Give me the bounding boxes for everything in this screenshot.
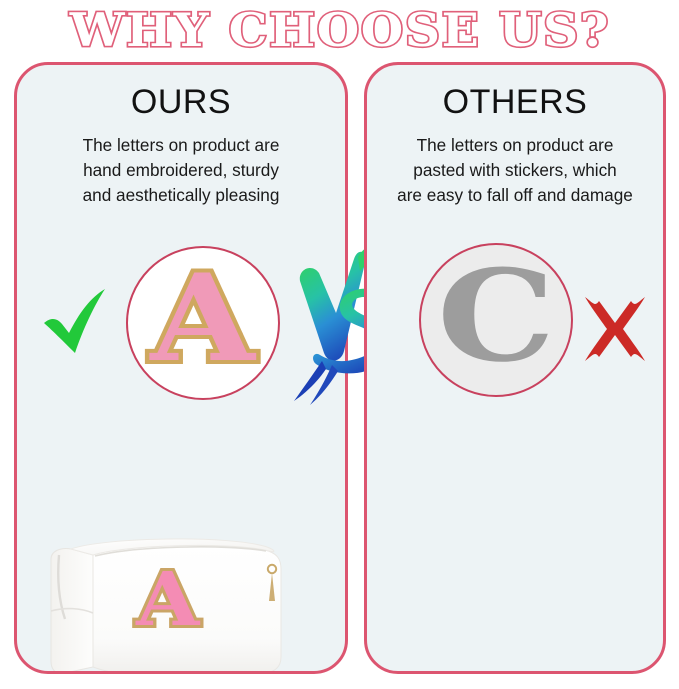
check-mark-icon (39, 287, 111, 359)
panel-description-others: The letters on product are pasted with s… (379, 133, 651, 208)
page-title-banner: WHY CHOOSE US? (0, 2, 679, 58)
sticker-letter-c: C (437, 253, 555, 379)
panel-heading-others: OTHERS (367, 83, 663, 122)
chenille-letter-a: A (151, 259, 255, 379)
panel-heading-ours: OURS (17, 83, 345, 122)
page-title: WHY CHOOSE US? (69, 7, 609, 53)
cross-mark-icon (579, 293, 651, 365)
bag-patch-letter-a: A (136, 563, 199, 637)
patch-closeup-ours: A (126, 246, 280, 400)
patch-closeup-others: C (419, 243, 573, 397)
comparison-panel-others: OTHERS The letters on product are pasted… (364, 62, 666, 674)
panel-description-ours: The letters on product are hand embroide… (29, 133, 333, 208)
